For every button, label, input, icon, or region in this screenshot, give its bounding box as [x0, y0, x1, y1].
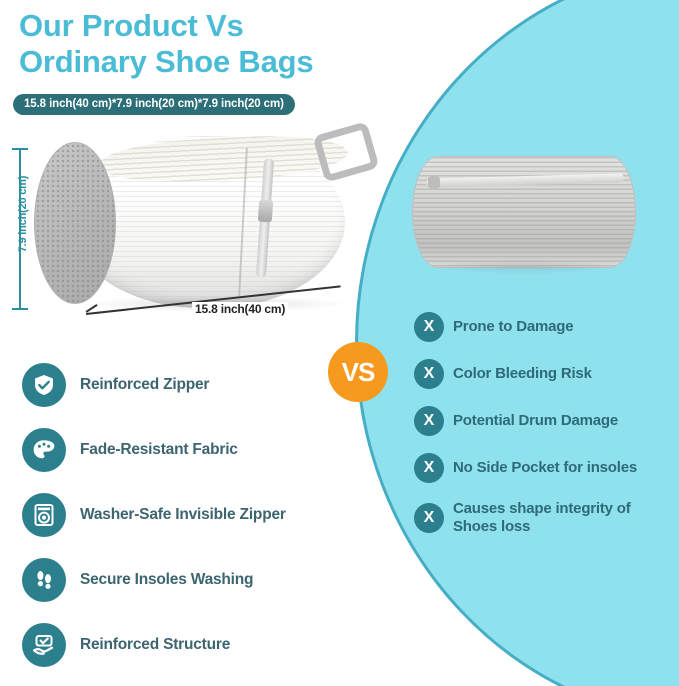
x-mark-icon: X	[414, 406, 444, 436]
pros-item: Fade-Resistant Fabric	[22, 417, 342, 482]
cons-item: X Potential Drum Damage	[414, 406, 664, 436]
pros-list: Reinforced Zipper Fade-Resistant Fabric	[22, 352, 342, 677]
dimension-horizontal-label: 15.8 inch(40 cm)	[192, 302, 288, 316]
dimension-vertical-label: 7.9 inch(20 cm)	[17, 129, 29, 299]
pros-item-label: Secure Insoles Washing	[80, 571, 253, 589]
cons-item-label: Color Bleeding Risk	[453, 365, 592, 383]
cons-item-label: Prone to Damage	[453, 318, 573, 336]
cons-item: X Color Bleeding Risk	[414, 359, 664, 389]
cons-item-label: Causes shape integrity of Shoes loss	[453, 500, 664, 536]
shield-check-icon	[22, 363, 66, 407]
hand-check-icon	[22, 623, 66, 667]
page-title: Our Product Vs Ordinary Shoe Bags	[19, 8, 359, 80]
x-mark-icon: X	[414, 453, 444, 483]
pros-item-label: Reinforced Zipper	[80, 376, 209, 394]
bag-mesh-endcap	[34, 142, 116, 304]
cons-item: X Prone to Damage	[414, 312, 664, 342]
cons-item: X Causes shape integrity of Shoes loss	[414, 500, 664, 536]
dimension-vertical-cap-bottom	[12, 308, 28, 310]
pros-item-label: Washer-Safe Invisible Zipper	[80, 506, 286, 524]
comparison-infographic: Our Product Vs Ordinary Shoe Bags 15.8 i…	[0, 0, 679, 686]
x-mark-icon: X	[414, 312, 444, 342]
pros-item: Reinforced Zipper	[22, 352, 342, 417]
bag-handle	[312, 121, 379, 183]
footprints-icon	[22, 558, 66, 602]
vs-badge: VS	[328, 342, 388, 402]
ordinary-product-image	[412, 156, 636, 274]
pros-item: Washer-Safe Invisible Zipper	[22, 482, 342, 547]
dimension-pill: 15.8 inch(40 cm)*7.9 inch(20 cm)*7.9 inc…	[13, 94, 295, 115]
washing-machine-icon	[22, 493, 66, 537]
cons-item: X No Side Pocket for insoles	[414, 453, 664, 483]
ordinary-bag-shadow	[428, 260, 620, 274]
cons-list: X Prone to Damage X Color Bleeding Risk …	[414, 312, 664, 553]
title-line-2: Ordinary Shoe Bags	[19, 44, 359, 80]
pros-item-label: Reinforced Structure	[80, 636, 230, 654]
title-line-1: Our Product Vs	[19, 8, 244, 43]
our-product-image	[28, 128, 358, 313]
palette-icon	[22, 428, 66, 472]
pros-item: Reinforced Structure	[22, 612, 342, 677]
pros-item: Secure Insoles Washing	[22, 547, 342, 612]
x-mark-icon: X	[414, 503, 444, 533]
cons-item-label: Potential Drum Damage	[453, 412, 618, 430]
ordinary-bag-body	[412, 156, 636, 268]
x-mark-icon: X	[414, 359, 444, 389]
dimension-horizontal: 15.8 inch(40 cm)	[86, 296, 342, 330]
pros-item-label: Fade-Resistant Fabric	[80, 441, 238, 459]
cons-item-label: No Side Pocket for insoles	[453, 459, 637, 477]
